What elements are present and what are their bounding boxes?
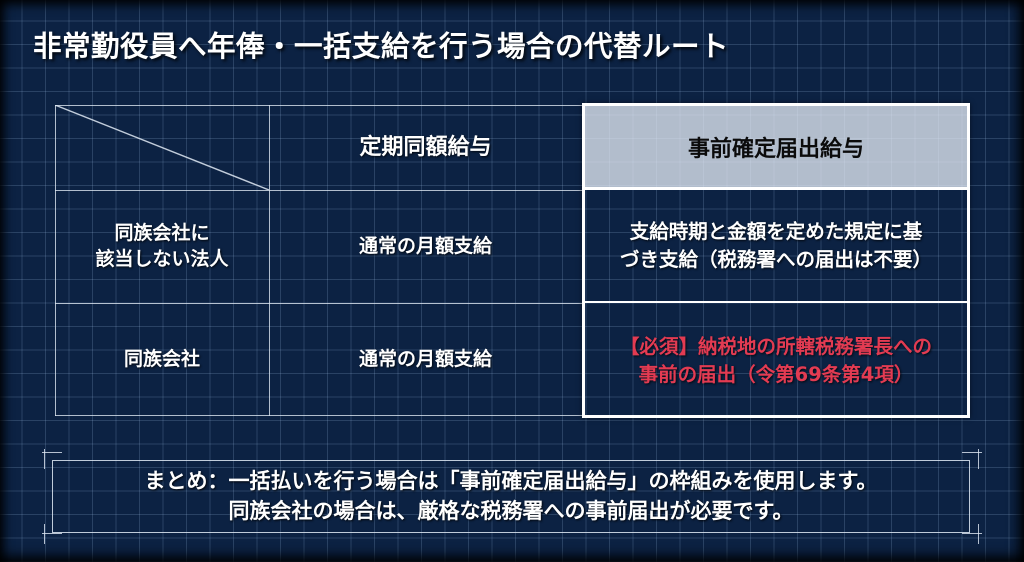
- page-title: 非常勤役員へ年俸・一括支給を行う場合の代替ルート: [33, 24, 729, 65]
- row1-jizen-cell: 支給時期と金額を定めた規定に基 づき支給（税務署への届出は不要）: [585, 190, 967, 303]
- table-header-corner: [55, 105, 269, 190]
- crosshair-tick-br-v: [978, 524, 979, 544]
- summary-box: まとめ：一括払いを行う場合は「事前確定届出給与」の枠組みを使用します。 同族会社…: [52, 460, 970, 533]
- row2-teiki-cell: 通常の月額支給: [269, 303, 582, 416]
- crosshair-tick-tl-v: [44, 449, 45, 469]
- row1-jizen-line2: づき支給（税務署への届出は不要）: [620, 246, 932, 273]
- row1-teiki-cell: 通常の月額支給: [269, 190, 582, 303]
- row1-category-line2: 該当しない法人: [95, 247, 228, 272]
- row1-category-cell: 同族会社に 該当しない法人: [55, 190, 269, 303]
- comparison-table: 定期同額給与 同族会社に 該当しない法人 通常の月額支給 同族会社 通常の月額支…: [55, 105, 968, 416]
- row2-jizen-line1: 【必須】納税地の所轄税務署長への: [620, 333, 932, 360]
- row2-category-cell: 同族会社: [55, 303, 269, 416]
- row1-jizen-line1: 支給時期と金額を定めた規定に基: [620, 218, 932, 245]
- crosshair-tick-tl-h: [42, 452, 62, 453]
- crosshair-tick-tr-h: [962, 452, 982, 453]
- crosshair-tick-tr-v: [978, 449, 979, 469]
- table-header-teiki: 定期同額給与: [269, 105, 582, 190]
- slide-canvas: 非常勤役員へ年俸・一括支給を行う場合の代替ルート 定期同額給与 同族会社に: [0, 0, 1024, 562]
- crosshair-tick-bl-v: [44, 524, 45, 544]
- highlighted-column-jizen: 事前確定届出給与 支給時期と金額を定めた規定に基 づき支給（税務署への届出は不要…: [582, 103, 970, 418]
- crosshair-tick-br-h: [962, 533, 982, 534]
- row2-jizen-cell: 【必須】納税地の所轄税務署長への 事前の届出（令第69条第4項）: [585, 303, 967, 418]
- crosshair-tick-bl-h: [42, 533, 62, 534]
- summary-line-2: 同族会社の場合は、厳格な税務署への事前届出が必要です。: [229, 497, 794, 527]
- table-header-jizen: 事前確定届出給与: [585, 106, 967, 190]
- row2-jizen-line2: 事前の届出（令第69条第4項）: [620, 361, 932, 388]
- row1-category-line1: 同族会社に: [95, 221, 228, 246]
- summary-line-1: まとめ：一括払いを行う場合は「事前確定届出給与」の枠組みを使用します。: [145, 467, 878, 497]
